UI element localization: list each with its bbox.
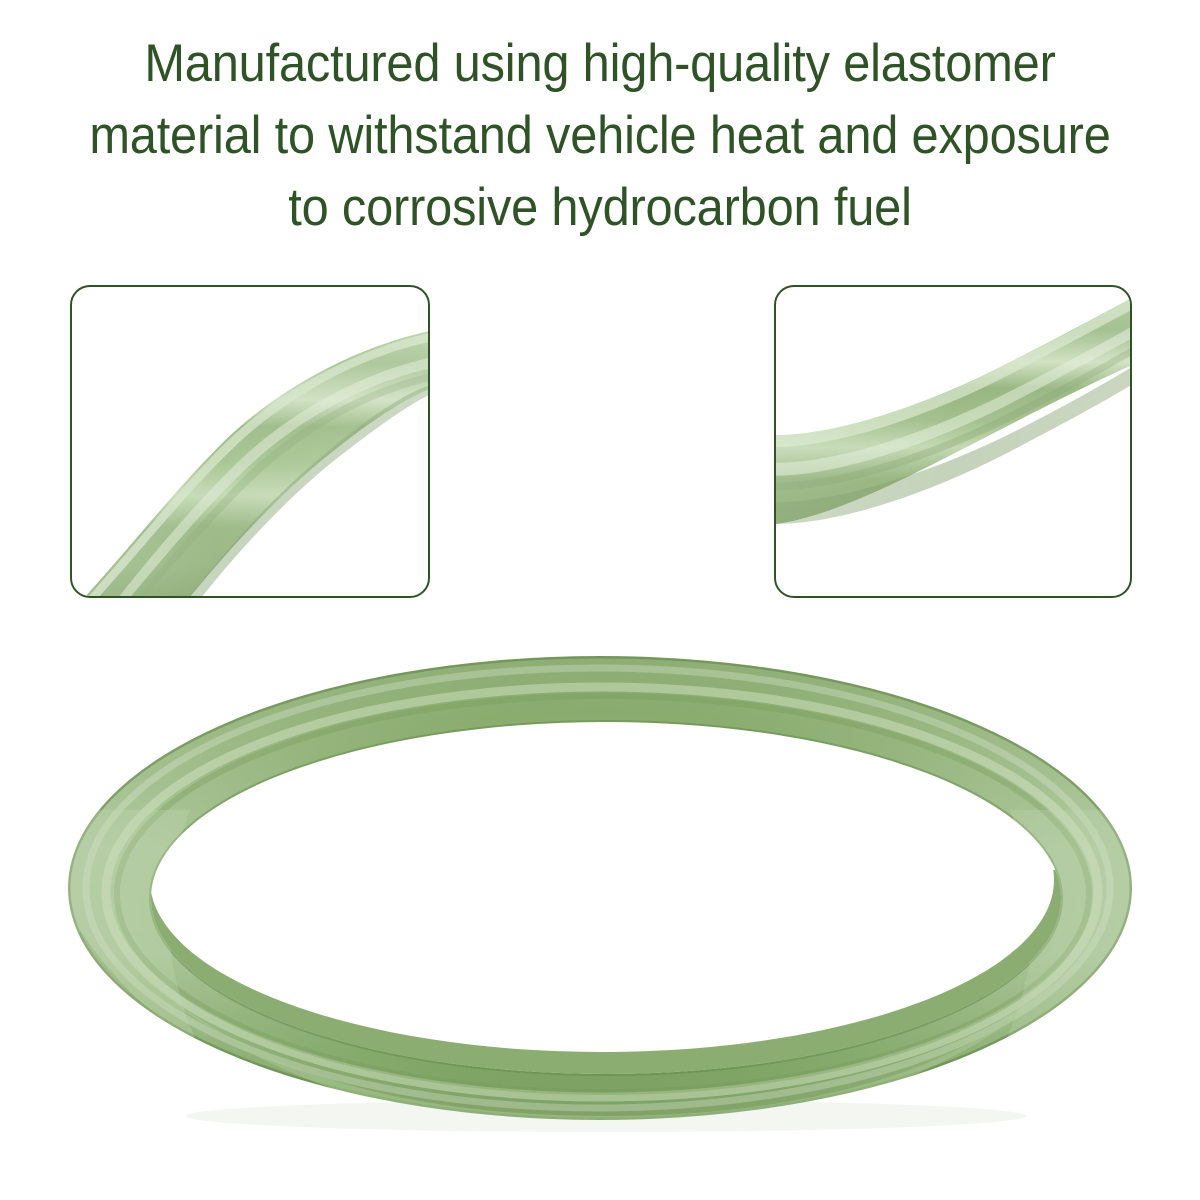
gasket-closeup-horizontal-image <box>776 287 1130 596</box>
headline-line-1: Manufactured using high-quality elastome… <box>48 28 1152 100</box>
headline-line-2: material to withstand vehicle heat and e… <box>48 100 1152 172</box>
gasket-closeup-diagonal-image <box>72 287 428 596</box>
elastomer-gasket-ring-image <box>50 630 1150 1150</box>
ring-inner-wall <box>50 630 1150 1150</box>
detail-panel-left <box>70 285 430 598</box>
panel-left-sheen <box>72 287 428 596</box>
detail-panel-right <box>774 285 1132 598</box>
product-feature-image: Manufactured using high-quality elastome… <box>0 0 1200 1200</box>
product-image-main <box>50 630 1150 1150</box>
panel-right-sheen <box>776 287 1130 596</box>
headline-line-3: to corrosive hydrocarbon fuel <box>48 172 1152 244</box>
page-title: Manufactured using high-quality elastome… <box>48 28 1152 244</box>
